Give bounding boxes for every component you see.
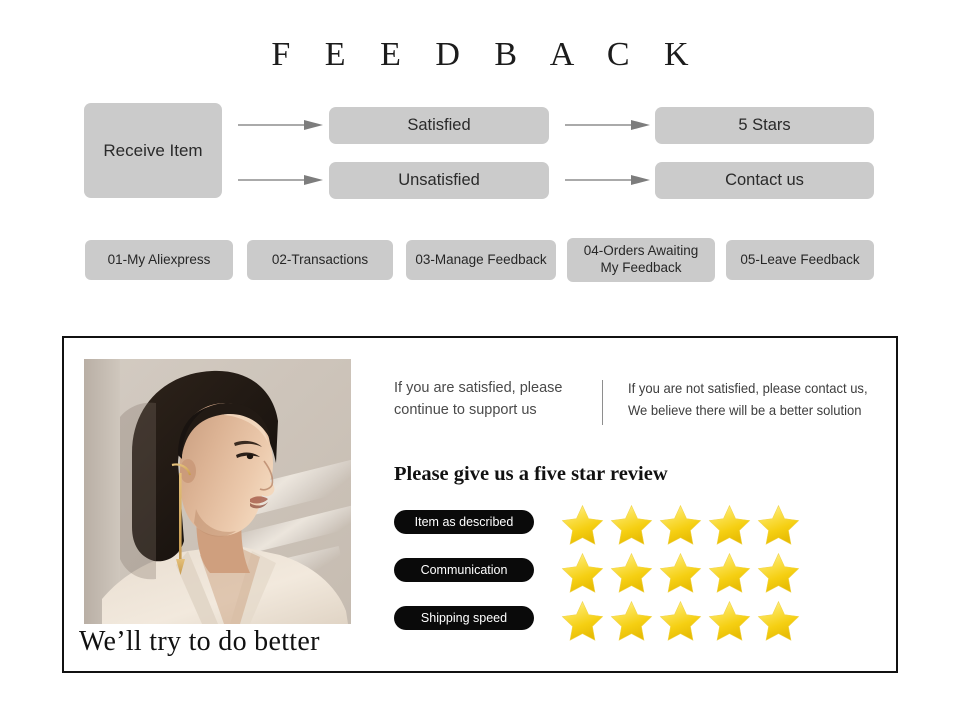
star-icon[interactable] <box>705 501 754 545</box>
steps-row: 01-My Aliexpress 02-Transactions 03-Mana… <box>0 238 960 288</box>
flow-node-contact-us: Contact us <box>655 162 874 199</box>
star-icon[interactable] <box>656 501 705 545</box>
flow-node-five-stars-label: 5 Stars <box>738 116 790 135</box>
star-icon[interactable] <box>607 597 656 641</box>
vertical-divider <box>602 380 603 425</box>
page-title: F E E D B A C K <box>0 36 960 74</box>
step-chip-04[interactable]: 04-Orders Awaiting My Feedback <box>567 238 715 282</box>
star-icon[interactable] <box>705 549 754 593</box>
flow-node-contact-us-label: Contact us <box>725 171 804 190</box>
star-icon[interactable] <box>607 549 656 593</box>
step-chip-04-label: 04-Orders Awaiting My Feedback <box>573 243 709 277</box>
flow-node-unsatisfied: Unsatisfied <box>329 162 549 199</box>
rating-label-text: Communication <box>421 563 508 577</box>
star-icon[interactable] <box>558 597 607 641</box>
rating-label-shipping-speed: Shipping speed <box>394 606 534 630</box>
flow-node-receive-item: Receive Item <box>84 103 222 198</box>
rating-label-text: Item as described <box>415 515 514 529</box>
step-chip-05[interactable]: 05-Leave Feedback <box>726 240 874 280</box>
star-icon[interactable] <box>754 597 803 641</box>
star-icon[interactable] <box>656 597 705 641</box>
arrow-right-icon <box>565 120 650 130</box>
rating-row: Shipping speed <box>394 606 874 654</box>
blurb-satisfied: If you are satisfied, please continue to… <box>394 377 589 422</box>
review-heading: Please give us a five star review <box>394 463 668 486</box>
star-rating-communication[interactable] <box>558 549 803 593</box>
star-icon[interactable] <box>705 597 754 641</box>
rating-label-item-as-described: Item as described <box>394 510 534 534</box>
review-panel: We’ll try to do better If you are satisf… <box>62 336 898 673</box>
star-icon[interactable] <box>607 501 656 545</box>
arrow-right-icon <box>238 175 323 185</box>
blurb-unsatisfied: If you are not satisfied, please contact… <box>628 377 870 422</box>
flow-node-unsatisfied-label: Unsatisfied <box>398 171 480 190</box>
step-chip-02[interactable]: 02-Transactions <box>247 240 393 280</box>
star-icon[interactable] <box>754 549 803 593</box>
feedback-flow-diagram: Receive Item Satisfied Unsatisfied 5 Sta… <box>0 103 960 203</box>
star-icon[interactable] <box>754 501 803 545</box>
woman-portrait-photo <box>84 359 351 624</box>
rating-label-communication: Communication <box>394 558 534 582</box>
step-chip-03-label: 03-Manage Feedback <box>415 252 546 269</box>
flow-node-five-stars: 5 Stars <box>655 107 874 144</box>
flow-node-satisfied: Satisfied <box>329 107 549 144</box>
star-rating-item-as-described[interactable] <box>558 501 803 545</box>
star-rating-shipping-speed[interactable] <box>558 597 803 641</box>
step-chip-01[interactable]: 01-My Aliexpress <box>85 240 233 280</box>
star-icon[interactable] <box>558 501 607 545</box>
step-chip-05-label: 05-Leave Feedback <box>740 252 859 269</box>
flow-node-receive-item-label: Receive Item <box>103 141 202 161</box>
star-icon[interactable] <box>656 549 705 593</box>
step-chip-02-label: 02-Transactions <box>272 252 368 269</box>
step-chip-03[interactable]: 03-Manage Feedback <box>406 240 556 280</box>
step-chip-01-label: 01-My Aliexpress <box>108 252 211 269</box>
arrow-right-icon <box>565 175 650 185</box>
flow-node-satisfied-label: Satisfied <box>407 116 470 135</box>
rating-label-text: Shipping speed <box>421 611 507 625</box>
rating-rows: Item as described Communication <box>394 510 874 654</box>
photo-caption: We’ll try to do better <box>79 626 379 658</box>
arrow-right-icon <box>238 120 323 130</box>
star-icon[interactable] <box>558 549 607 593</box>
